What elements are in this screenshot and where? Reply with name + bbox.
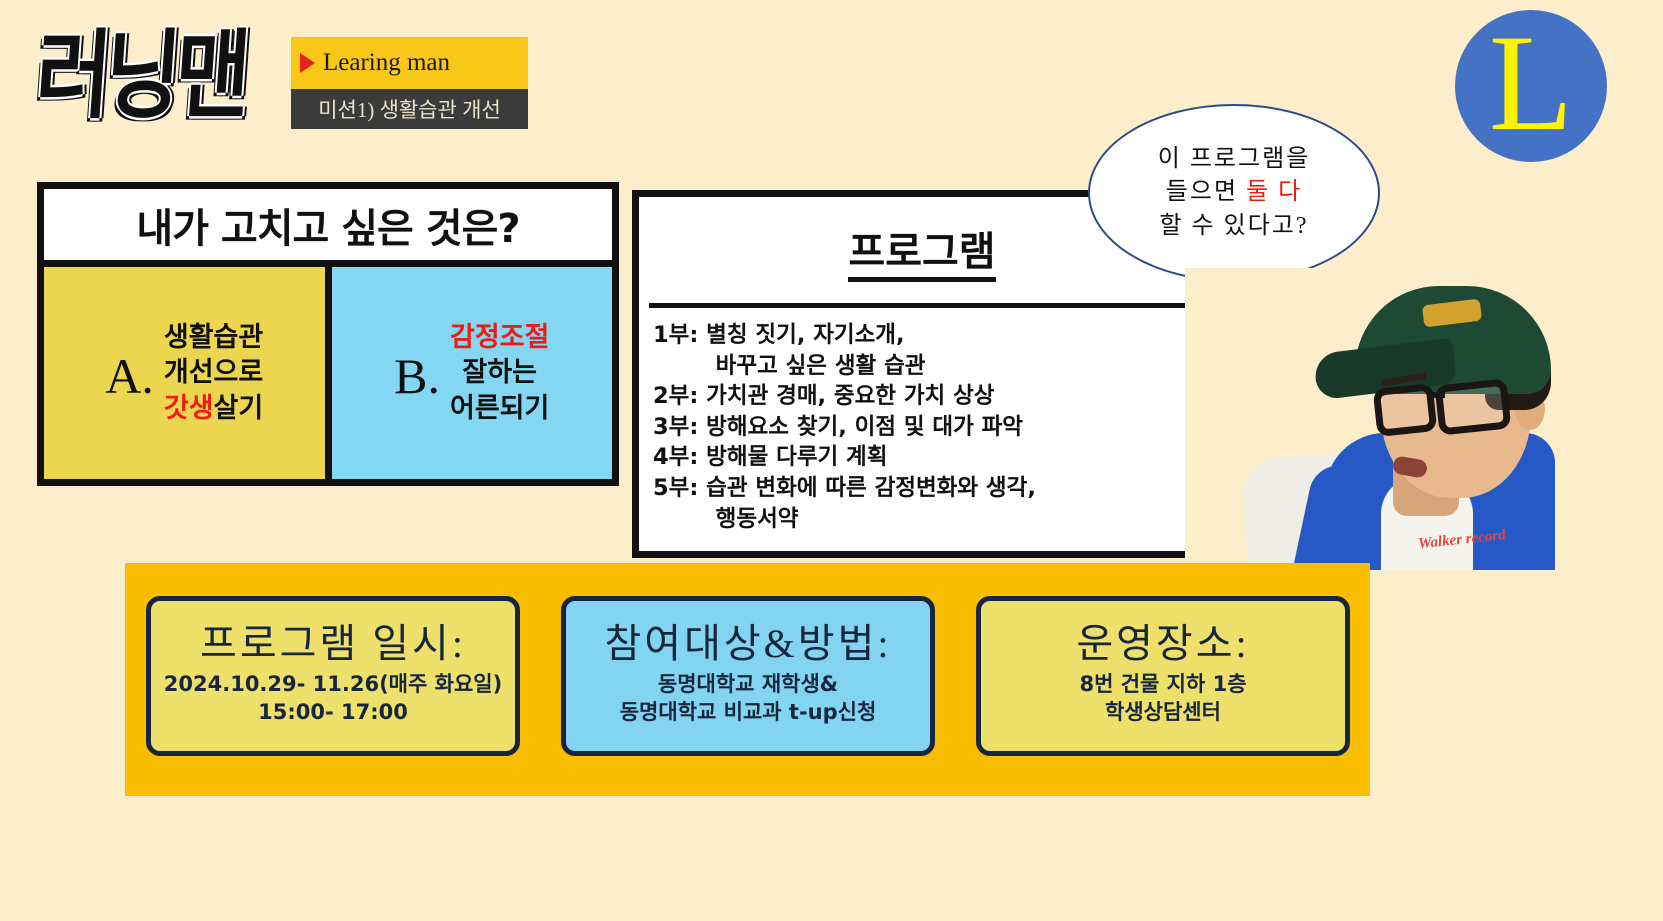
header-tag-english: Learing man <box>291 37 528 89</box>
glasses-bridge <box>1431 392 1445 398</box>
info-card-location-line: 학생상담센터 <box>1105 699 1221 726</box>
info-card-row: 프로그램 일시: 2024.10.29- 11.26(매주 화요일) 15:00… <box>125 563 1370 756</box>
glasses-right-lens <box>1435 378 1512 435</box>
option-b[interactable]: B. 감정조절 잘하는 어른되기 <box>332 267 613 479</box>
header-tag-english-label: Learing man <box>323 49 450 77</box>
question-panel: 내가 고치고 싶은 것은? A. 생활습관 개선으로 갓생살기 B. 감정조절 … <box>37 182 619 486</box>
option-a-line1: 생활습관 <box>164 322 263 353</box>
option-a[interactable]: A. 생활습관 개선으로 갓생살기 <box>44 267 332 479</box>
program-item: 1부: 별칭 짓기, 자기소개, 바꾸고 싶은 생활 습관 <box>653 320 1205 381</box>
info-card-audience-title: 참여대상&방법: <box>604 622 891 665</box>
info-card-audience-line: 동명대학교 비교과 t-up신청 <box>620 699 877 726</box>
speech-line-2-prefix: 들으면 <box>1166 179 1246 205</box>
info-card-audience-line: 동명대학교 재학생& <box>658 671 838 698</box>
program-item: 2부: 가치관 경매, 중요한 가치 상상 <box>653 381 1205 412</box>
program-panel-title-text: 프로그램 <box>848 229 995 282</box>
info-card-schedule: 프로그램 일시: 2024.10.29- 11.26(매주 화요일) 15:00… <box>146 596 520 756</box>
option-b-line3: 어른되기 <box>450 393 549 424</box>
speech-line-1: 이 프로그램을 <box>1158 143 1310 176</box>
info-card-location: 운영장소: 8번 건물 지하 1층 학생상담센터 <box>976 596 1350 756</box>
play-triangle-icon <box>300 53 315 73</box>
question-panel-title: 내가 고치고 싶은 것은? <box>44 189 612 267</box>
header-tag-stack: Learing man 미션1) 생활습관 개선 <box>291 37 528 129</box>
option-a-highlight: 갓생 <box>164 393 214 424</box>
option-b-line2: 잘하는 <box>462 357 537 388</box>
logo-text: 러닝맨 <box>32 15 311 139</box>
option-a-text: 생활습관 개선으로 갓생살기 <box>164 320 263 427</box>
info-card-location-title: 운영장소: <box>1076 622 1249 665</box>
letter-badge: L <box>1455 10 1607 162</box>
running-man-logo: 러닝맨 <box>36 24 306 134</box>
program-item: 4부: 방해물 다루기 계획 <box>653 442 1205 473</box>
option-b-letter: B. <box>394 347 440 405</box>
program-list: 1부: 별칭 짓기, 자기소개, 바꾸고 싶은 생활 습관 2부: 가치관 경매… <box>639 308 1205 534</box>
option-a-line2: 개선으로 <box>164 357 263 388</box>
option-a-letter: A. <box>105 347 154 405</box>
info-card-audience: 참여대상&방법: 동명대학교 재학생& 동명대학교 비교과 t-up신청 <box>561 596 935 756</box>
info-card-location-line: 8번 건물 지하 1층 <box>1079 671 1246 698</box>
program-item: 5부: 습관 변화에 따른 감정변화와 생각, 행동서약 <box>653 473 1205 534</box>
speech-line-2-highlight: 둘 다 <box>1246 179 1302 205</box>
option-b-text: 감정조절 잘하는 어른되기 <box>450 320 549 427</box>
badge-letter: L <box>1489 26 1573 139</box>
option-b-highlight: 감정조절 <box>450 322 549 353</box>
header-tag-korean: 미션1) 생활습관 개선 <box>291 89 528 129</box>
glasses-left-lens <box>1373 383 1438 437</box>
info-band: 프로그램 일시: 2024.10.29- 11.26(매주 화요일) 15:00… <box>125 563 1370 796</box>
option-a-line3-rest: 살기 <box>214 393 264 424</box>
info-card-schedule-line: 2024.10.29- 11.26(매주 화요일) <box>164 671 502 698</box>
poster-header: 러닝맨 Learing man 미션1) 생활습관 개선 L <box>0 0 1663 170</box>
speech-line-2: 들으면 둘 다 <box>1166 176 1302 209</box>
info-card-schedule-title: 프로그램 일시: <box>200 622 466 665</box>
info-card-schedule-line: 15:00- 17:00 <box>258 699 408 726</box>
program-item: 3부: 방해요소 찾기, 이점 및 대가 파악 <box>653 412 1205 443</box>
speech-bubble: 이 프로그램을 들으면 둘 다 할 수 있다고? <box>1088 104 1380 282</box>
option-row: A. 생활습관 개선으로 갓생살기 B. 감정조절 잘하는 어른되기 <box>44 267 612 479</box>
host-photo: Walker record <box>1185 268 1565 570</box>
speech-line-3: 할 수 있다고? <box>1159 210 1308 243</box>
